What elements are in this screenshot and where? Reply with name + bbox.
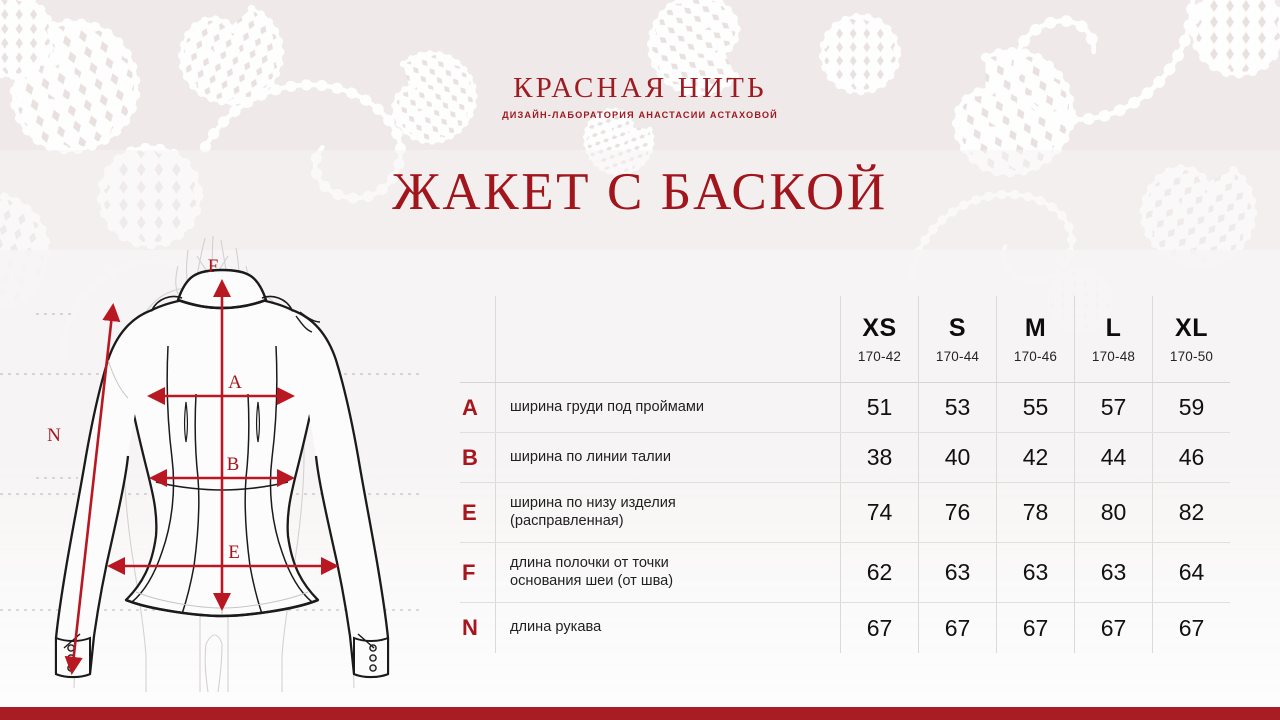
- size-column-header-l: L 170-48: [1074, 296, 1152, 382]
- value-f-s: 63: [918, 543, 996, 602]
- marker-label-A: A: [228, 372, 242, 393]
- table-row: Eширина по низу изделия(расправленная)74…: [460, 483, 1230, 543]
- value-f-xs: 62: [840, 543, 918, 602]
- size-sublabel-s: 170-44: [936, 349, 979, 364]
- size-column-header-xs: XS 170-42: [840, 296, 918, 382]
- value-n-xs: 67: [840, 603, 918, 653]
- size-label-s: S: [949, 314, 966, 343]
- value-f-xl: 64: [1152, 543, 1230, 602]
- brand-wordmark: КРАСНАЯ НИТЬ: [0, 74, 1280, 103]
- table-row: Bширина по линии талии3840424446: [460, 433, 1230, 483]
- row-letter-n: N: [460, 603, 495, 653]
- accent-bottom-bar: [0, 707, 1280, 720]
- table-row: Aширина груди под проймами5153555759: [460, 383, 1230, 433]
- row-description-n: длина рукава: [495, 603, 840, 653]
- value-a-xl: 59: [1152, 383, 1230, 432]
- size-chart-table: XS 170-42 S 170-44 M 170-46 L 170-48 XL …: [460, 296, 1230, 634]
- value-b-xl: 46: [1152, 433, 1230, 482]
- table-row: Nдлина рукава6767676767: [460, 603, 1230, 653]
- value-a-s: 53: [918, 383, 996, 432]
- value-b-l: 44: [1074, 433, 1152, 482]
- value-n-l: 67: [1074, 603, 1152, 653]
- size-sublabel-l: 170-48: [1092, 349, 1135, 364]
- value-n-s: 67: [918, 603, 996, 653]
- size-label-l: L: [1106, 314, 1122, 343]
- size-sublabel-xs: 170-42: [858, 349, 901, 364]
- value-a-xs: 51: [840, 383, 918, 432]
- value-a-m: 55: [996, 383, 1074, 432]
- row-letter-b: B: [460, 433, 495, 482]
- table-header-row: XS 170-42 S 170-44 M 170-46 L 170-48 XL …: [460, 296, 1230, 383]
- value-n-xl: 67: [1152, 603, 1230, 653]
- size-sublabel-xl: 170-50: [1170, 349, 1213, 364]
- value-b-m: 42: [996, 433, 1074, 482]
- value-a-l: 57: [1074, 383, 1152, 432]
- size-label-m: M: [1025, 314, 1046, 343]
- value-b-xs: 38: [840, 433, 918, 482]
- row-letter-e: E: [460, 483, 495, 542]
- row-letter-f: F: [460, 543, 495, 602]
- size-label-xl: XL: [1175, 314, 1208, 343]
- value-e-xs: 74: [840, 483, 918, 542]
- slide-canvas: КРАСНАЯ НИТЬ ДИЗАЙН-ЛАБОРАТОРИЯ АНАСТАСИ…: [0, 0, 1280, 720]
- size-column-header-m: M 170-46: [996, 296, 1074, 382]
- header-letter-cell: [460, 296, 495, 382]
- value-b-s: 40: [918, 433, 996, 482]
- value-e-xl: 82: [1152, 483, 1230, 542]
- brand-tagline: ДИЗАЙН-ЛАБОРАТОРИЯ АНАСТАСИИ АСТАХОВОЙ: [0, 110, 1280, 120]
- size-column-header-s: S 170-44: [918, 296, 996, 382]
- value-f-l: 63: [1074, 543, 1152, 602]
- row-letter-a: A: [460, 383, 495, 432]
- marker-label-E: E: [228, 542, 240, 563]
- brand-logo: КРАСНАЯ НИТЬ ДИЗАЙН-ЛАБОРАТОРИЯ АНАСТАСИ…: [0, 74, 1280, 120]
- table-body: Aширина груди под проймами5153555759Bшир…: [460, 383, 1230, 653]
- row-description-a: ширина груди под проймами: [495, 383, 840, 432]
- header-description-cell: [495, 296, 840, 382]
- value-e-m: 78: [996, 483, 1074, 542]
- value-e-l: 80: [1074, 483, 1152, 542]
- size-label-xs: XS: [862, 314, 896, 343]
- row-description-f: длина полочки от точкиоснования шеи (от …: [495, 543, 840, 602]
- size-column-header-xl: XL 170-50: [1152, 296, 1230, 382]
- row-description-b: ширина по линии талии: [495, 433, 840, 482]
- row-description-e: ширина по низу изделия(расправленная): [495, 483, 840, 542]
- value-e-s: 76: [918, 483, 996, 542]
- table-row: Fдлина полочки от точкиоснования шеи (от…: [460, 543, 1230, 603]
- marker-label-F: F: [208, 256, 219, 277]
- page-title: ЖАКЕТ С БАСКОЙ: [0, 166, 1280, 219]
- value-n-m: 67: [996, 603, 1074, 653]
- marker-label-N: N: [47, 425, 61, 446]
- jacket-illustration: F A B E N: [0, 236, 450, 696]
- value-f-m: 63: [996, 543, 1074, 602]
- marker-label-B: B: [227, 454, 240, 475]
- size-sublabel-m: 170-46: [1014, 349, 1057, 364]
